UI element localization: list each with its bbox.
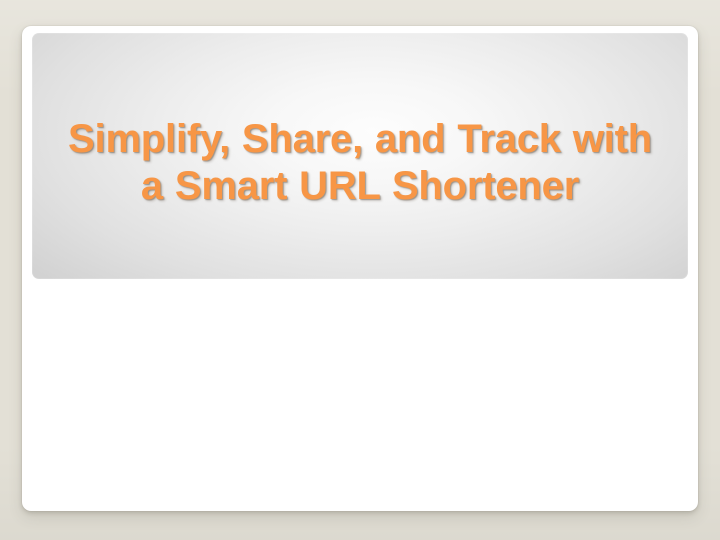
presentation-canvas: Simplify, Share, and Track with a Smart … [0,0,720,540]
title-banner[interactable]: Simplify, Share, and Track with a Smart … [32,33,688,279]
body-content-placeholder[interactable] [32,288,688,502]
slide-card[interactable]: Simplify, Share, and Track with a Smart … [22,26,698,511]
slide-title[interactable]: Simplify, Share, and Track with a Smart … [52,116,668,210]
